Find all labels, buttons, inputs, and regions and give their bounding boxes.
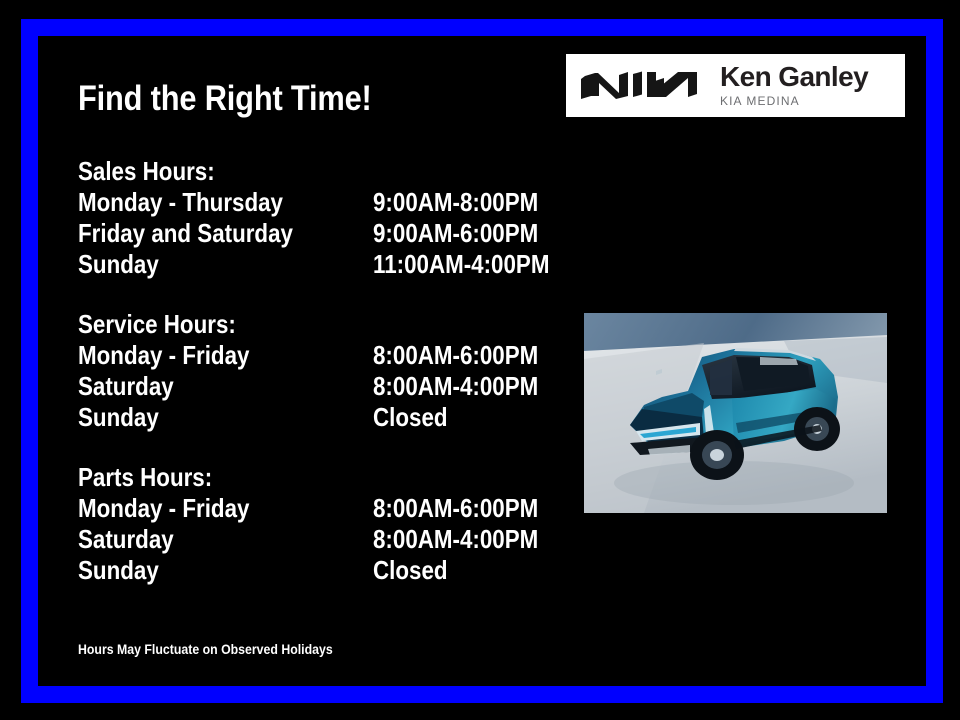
hours-group-heading: Service Hours: xyxy=(78,309,482,340)
hours-row-day: Sunday xyxy=(78,402,159,433)
dealer-name-block: Ken Ganley KIA MEDINA xyxy=(720,62,868,109)
dealer-name: Ken Ganley xyxy=(720,62,868,92)
hours-row: Sunday 11:00AM-4:00PM xyxy=(78,249,548,280)
hours-list: Sales Hours: Monday - Thursday 9:00AM-8:… xyxy=(78,156,548,586)
hours-row: Sunday Closed xyxy=(78,402,548,433)
kia-ev9-suv-photo xyxy=(584,313,887,513)
hours-row: Saturday 8:00AM-4:00PM xyxy=(78,371,548,402)
hours-row: Monday - Thursday 9:00AM-8:00PM xyxy=(78,187,548,218)
hours-row-time: 11:00AM-4:00PM xyxy=(373,249,549,280)
page-title: Find the Right Time! xyxy=(78,78,372,120)
hours-group-heading: Sales Hours: xyxy=(78,156,482,187)
hours-row-day: Friday and Saturday xyxy=(78,218,293,249)
hours-row-time: 8:00AM-4:00PM xyxy=(373,371,538,402)
hours-row-time: Closed xyxy=(373,555,448,586)
hours-row: Friday and Saturday 9:00AM-6:00PM xyxy=(78,218,548,249)
hours-group-parts: Parts Hours: Monday - Friday 8:00AM-6:00… xyxy=(78,462,548,586)
hours-row: Monday - Friday 8:00AM-6:00PM xyxy=(78,340,548,371)
hours-group-heading: Parts Hours: xyxy=(78,462,482,493)
dealer-location: KIA MEDINA xyxy=(720,93,868,109)
presentation-slide: Find the Right Time! Sales Hours: Monday… xyxy=(0,0,960,720)
hours-row-time: 8:00AM-6:00PM xyxy=(373,340,538,371)
hours-row: Sunday Closed xyxy=(78,555,548,586)
hours-row-day: Sunday xyxy=(78,249,159,280)
disclaimer-text: Hours May Fluctuate on Observed Holidays xyxy=(78,641,333,657)
hours-row-day: Monday - Thursday xyxy=(78,187,283,218)
hours-row-time: 9:00AM-6:00PM xyxy=(373,218,538,249)
hours-row-time: 8:00AM-4:00PM xyxy=(373,524,538,555)
hours-group-sales: Sales Hours: Monday - Thursday 9:00AM-8:… xyxy=(78,156,548,280)
hours-row-day: Saturday xyxy=(78,371,174,402)
hours-row-time: 9:00AM-8:00PM xyxy=(373,187,538,218)
hours-row-day: Monday - Friday xyxy=(78,340,249,371)
dealer-logo: Ken Ganley KIA MEDINA xyxy=(566,54,905,117)
hours-row-time: 8:00AM-6:00PM xyxy=(373,493,538,524)
hours-row-day: Saturday xyxy=(78,524,174,555)
hours-group-service: Service Hours: Monday - Friday 8:00AM-6:… xyxy=(78,309,548,433)
kia-logo-icon xyxy=(580,71,698,101)
hours-row-time: Closed xyxy=(373,402,448,433)
hours-row: Monday - Friday 8:00AM-6:00PM xyxy=(78,493,548,524)
hours-row-day: Monday - Friday xyxy=(78,493,249,524)
hours-row-day: Sunday xyxy=(78,555,159,586)
hours-row: Saturday 8:00AM-4:00PM xyxy=(78,524,548,555)
